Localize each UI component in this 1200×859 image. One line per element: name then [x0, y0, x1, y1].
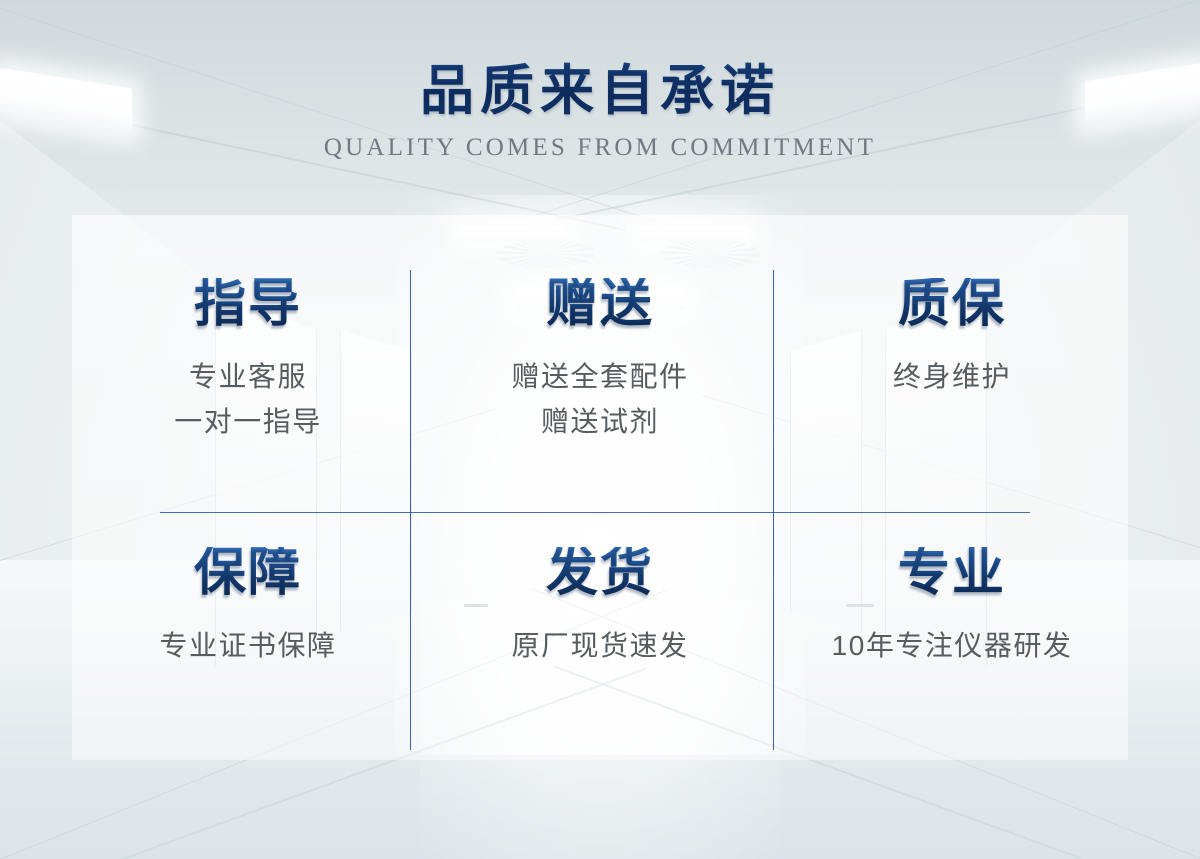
feature-line: 一对一指导: [174, 399, 322, 444]
feature-line: 专业证书保障: [159, 623, 336, 668]
feature-title: 质保: [898, 278, 1006, 330]
feature-description: 专业证书保障: [159, 623, 336, 668]
page-title: 品质来自承诺: [0, 0, 1200, 120]
feature-description: 专业客服 一对一指导: [174, 354, 322, 445]
feature-cell-warranty: 质保 终身维护: [776, 250, 1128, 505]
page-subtitle: QUALITY COMES FROM COMMITMENT: [0, 134, 1200, 162]
feature-cell-guidance: 指导 专业客服 一对一指导: [72, 250, 424, 505]
feature-description: 赠送全套配件 赠送试剂: [511, 354, 688, 445]
feature-line: 终身维护: [893, 354, 1011, 399]
feature-cell-assurance: 保障 专业证书保障: [72, 505, 424, 760]
feature-title: 专业: [898, 547, 1006, 599]
feature-line: 赠送试剂: [511, 399, 688, 444]
feature-title: 保障: [194, 547, 302, 599]
feature-grid: 指导 专业客服 一对一指导 赠送 赠送全套配件 赠送试剂 质保 终身维护 保障 …: [72, 250, 1128, 760]
feature-description: 原厂现货速发: [511, 623, 688, 668]
feature-title: 指导: [194, 278, 302, 330]
feature-line: 10年专注仪器研发: [832, 623, 1073, 668]
feature-cell-gift: 赠送 赠送全套配件 赠送试剂: [424, 250, 776, 505]
feature-cell-expertise: 专业 10年专注仪器研发: [776, 505, 1128, 760]
feature-description: 终身维护: [893, 354, 1011, 399]
feature-line: 专业客服: [174, 354, 322, 399]
feature-line: 赠送全套配件: [511, 354, 688, 399]
feature-title: 发货: [546, 547, 654, 599]
feature-cell-shipping: 发货 原厂现货速发: [424, 505, 776, 760]
promo-banner: 品质来自承诺 QUALITY COMES FROM COMMITMENT 指导 …: [0, 0, 1200, 859]
feature-title: 赠送: [546, 278, 654, 330]
banner-header: 品质来自承诺 QUALITY COMES FROM COMMITMENT: [0, 0, 1200, 162]
feature-line: 原厂现货速发: [511, 623, 688, 668]
feature-description: 10年专注仪器研发: [832, 623, 1073, 668]
